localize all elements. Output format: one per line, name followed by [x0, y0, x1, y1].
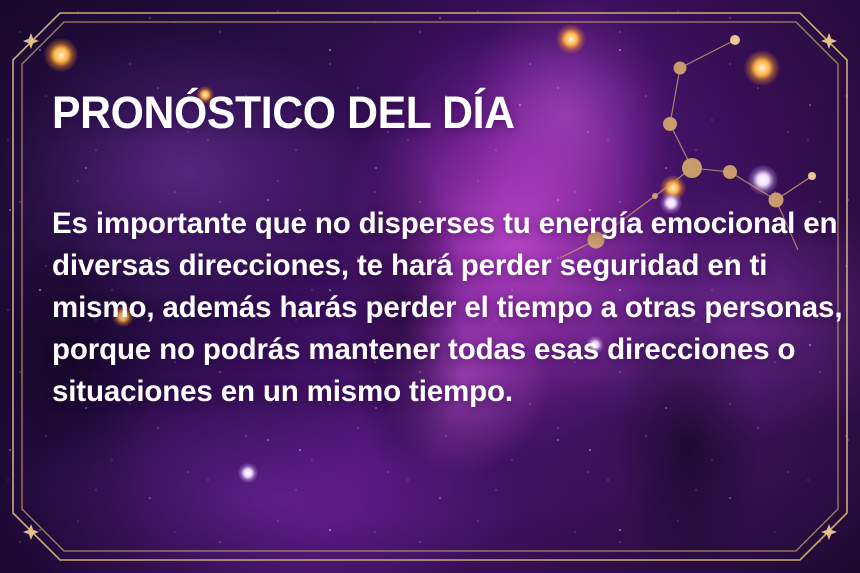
poster-content: PRONÓSTICO DEL DÍA Es importante que no … — [52, 0, 842, 573]
horoscope-body-text: Es importante que no disperses tu energí… — [52, 203, 852, 413]
horoscope-poster: PRONÓSTICO DEL DÍA Es importante que no … — [0, 0, 860, 573]
page-title: PRONÓSTICO DEL DÍA — [52, 90, 515, 135]
